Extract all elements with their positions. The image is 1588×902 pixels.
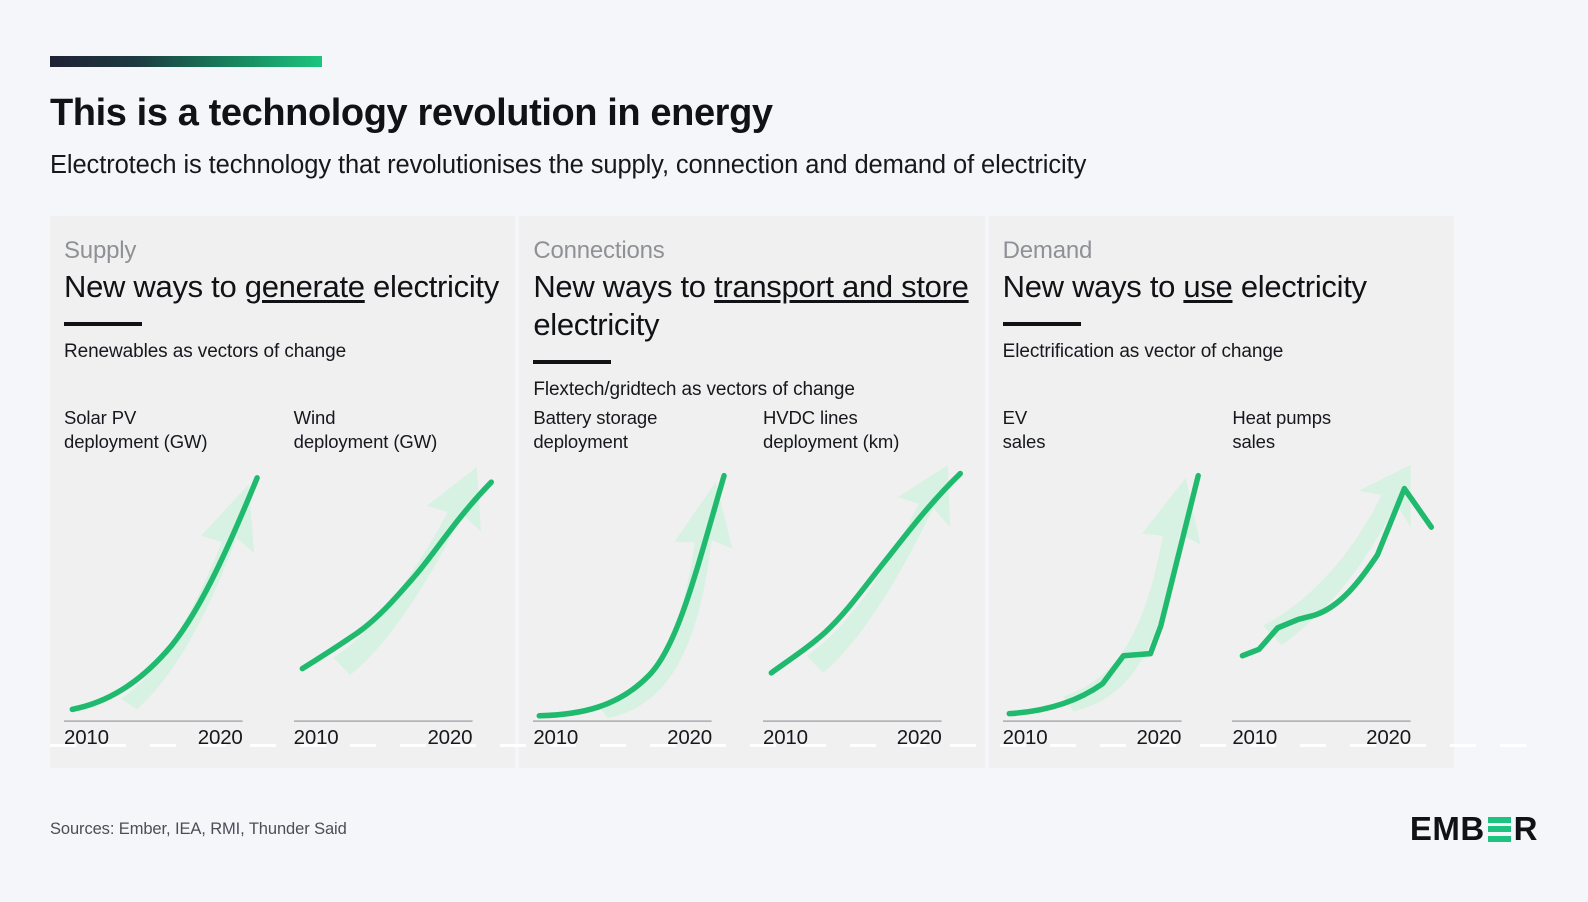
chart-plot	[294, 465, 502, 722]
chart-hvdc-lines: HVDC lines deployment (km) 2010 2020	[763, 406, 971, 750]
panel-kicker: Demand	[1003, 238, 1440, 264]
page-title: This is a technology revolution in energ…	[50, 94, 1086, 134]
chart-title: Wind deployment (GW)	[294, 406, 502, 455]
panel-divider-rule	[533, 360, 611, 364]
headline-prefix: New ways to	[64, 269, 245, 304]
panel-divider-rule	[64, 322, 142, 326]
headline-emphasis: transport and store	[714, 269, 969, 304]
logo-text-r: R	[1514, 810, 1538, 848]
sources-note: Sources: Ember, IEA, RMI, Thunder Said	[50, 820, 347, 839]
panel-headline: New ways to use electricity	[1003, 268, 1440, 306]
chart-plot	[763, 465, 971, 722]
growth-arrow	[333, 467, 480, 675]
growth-arrow	[1263, 465, 1410, 645]
page-subtitle: Electrotech is technology that revolutio…	[50, 151, 1086, 179]
headline-suffix: electricity	[365, 269, 499, 304]
logo-text-emb: EMB	[1410, 810, 1485, 848]
headline-prefix: New ways to	[533, 269, 714, 304]
chart-title: Heat pumps sales	[1232, 406, 1440, 455]
panel-demand: Demand New ways to use electricity Elect…	[989, 216, 1454, 768]
panel-kicker: Connections	[533, 238, 970, 264]
chart-plot	[1003, 465, 1211, 722]
headline-suffix: electricity	[1233, 269, 1367, 304]
panel-headline: New ways to generate electricity	[64, 268, 501, 306]
growth-arrow	[1063, 478, 1200, 712]
headline-prefix: New ways to	[1003, 269, 1184, 304]
panel-headline: New ways to transport and store electric…	[533, 268, 970, 344]
chart-ev-sales: EV sales 2010 2020	[1003, 406, 1211, 750]
headline-emphasis: use	[1183, 269, 1232, 304]
header: This is a technology revolution in energ…	[50, 56, 1086, 179]
chart-solar-pv: Solar PV deployment (GW) 2010 2020	[64, 406, 272, 750]
headline-suffix: electricity	[533, 307, 659, 342]
ember-logo: EMB R	[1410, 810, 1538, 848]
dashed-divider	[50, 744, 1538, 747]
chart-plot	[64, 465, 272, 722]
chart-battery-storage: Battery storage deployment 2010 2020	[533, 406, 741, 750]
data-line	[771, 473, 960, 672]
panel-subtitle: Electrification as vector of change	[1003, 342, 1440, 363]
panel-connections: Connections New ways to transport and st…	[519, 216, 984, 768]
footer: Sources: Ember, IEA, RMI, Thunder Said E…	[50, 810, 1538, 848]
chart-title: Battery storage deployment	[533, 406, 741, 455]
panel-subtitle: Flextech/gridtech as vectors of change	[533, 380, 970, 401]
chart-plot	[533, 465, 741, 722]
panel-supply: Supply New ways to generate electricity …	[50, 216, 515, 768]
data-line	[302, 482, 491, 668]
sparkline-row: EV sales 2010 2020 Heat pumps sales	[1003, 406, 1440, 750]
chart-title: EV sales	[1003, 406, 1211, 455]
chart-title: Solar PV deployment (GW)	[64, 406, 272, 455]
accent-gradient-bar	[50, 56, 322, 67]
panel-divider-rule	[1003, 322, 1081, 326]
panel-kicker: Supply	[64, 238, 501, 264]
chart-heat-pumps: Heat pumps sales 2010 2020	[1232, 406, 1440, 750]
chart-wind: Wind deployment (GW) 2010 2020	[294, 406, 502, 750]
chart-title: HVDC lines deployment (km)	[763, 406, 971, 455]
panel-subtitle: Renewables as vectors of change	[64, 342, 501, 363]
chart-plot	[1232, 465, 1440, 722]
logo-e-bars-icon	[1488, 817, 1511, 842]
sparkline-row: Solar PV deployment (GW) 2010 2020 Wind …	[64, 406, 501, 750]
panel-container: Supply New ways to generate electricity …	[50, 216, 1454, 768]
headline-emphasis: generate	[245, 269, 365, 304]
sparkline-row: Battery storage deployment 2010 2020 HVD…	[533, 406, 970, 750]
